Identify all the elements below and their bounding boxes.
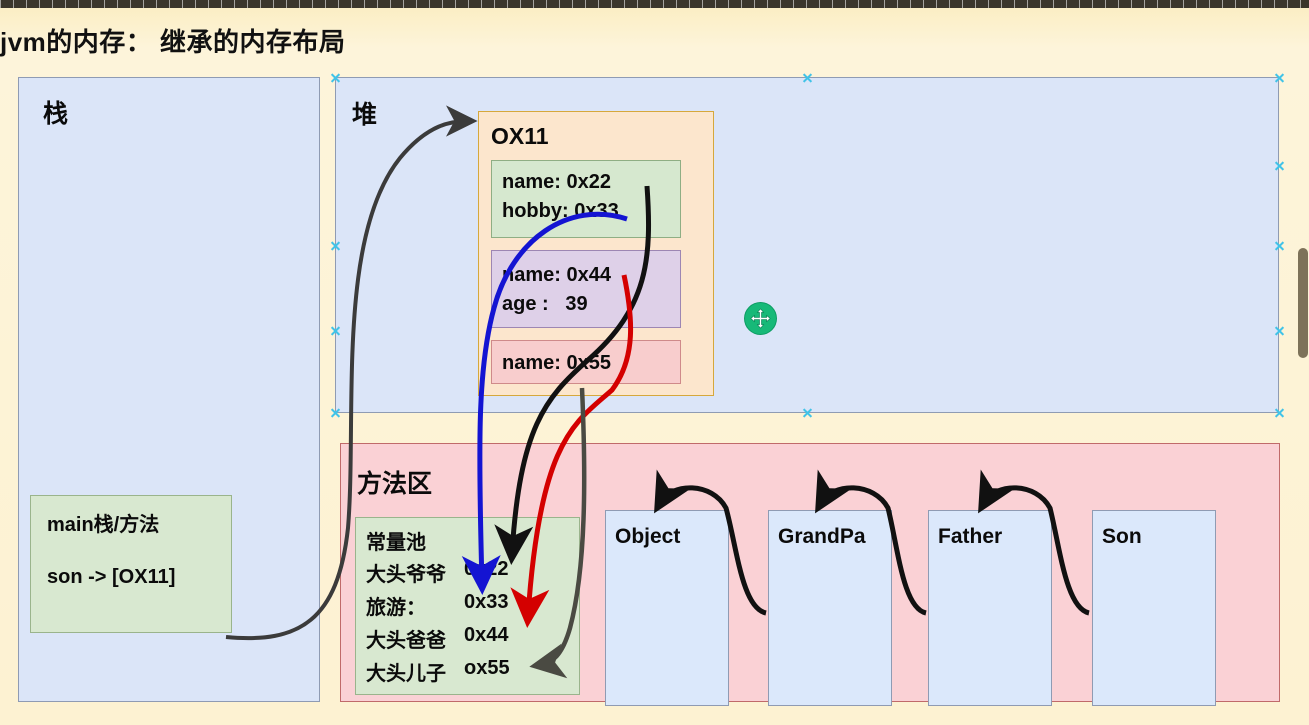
diagram-canvas[interactable]: jvm的内存： 继承的内存布局 栈 main栈/方法 son -> [OX11]…: [0, 8, 1309, 725]
selection-handle-right-lower[interactable]: [1274, 325, 1285, 336]
arrow-inherit-grandpa-object: [660, 488, 766, 613]
arrow-inherit-father-grandpa: [821, 488, 926, 613]
arrow-inherit-son-father: [984, 488, 1089, 613]
move-cross-icon[interactable]: [745, 303, 776, 334]
vertical-scrollbar-thumb[interactable]: [1298, 248, 1308, 358]
selection-handle-top-center[interactable]: [802, 72, 813, 83]
arrow-layer: [0, 8, 1309, 725]
selection-handle-bottom-right[interactable]: [1274, 407, 1285, 418]
arrow-stack-to-heap: [226, 121, 468, 638]
selection-handle-right-upper[interactable]: [1274, 160, 1285, 171]
selection-handle-bottom-left[interactable]: [330, 407, 341, 418]
selection-handle-top-left[interactable]: [330, 72, 341, 83]
selection-handle-middle-left[interactable]: [330, 240, 341, 251]
selection-handle-left-lower[interactable]: [330, 325, 341, 336]
selection-handle-bottom-center[interactable]: [802, 407, 813, 418]
selection-handle-middle-right[interactable]: [1274, 240, 1285, 251]
arrow-son-name-to-pool: [540, 388, 584, 665]
selection-handle-top-right[interactable]: [1274, 72, 1285, 83]
